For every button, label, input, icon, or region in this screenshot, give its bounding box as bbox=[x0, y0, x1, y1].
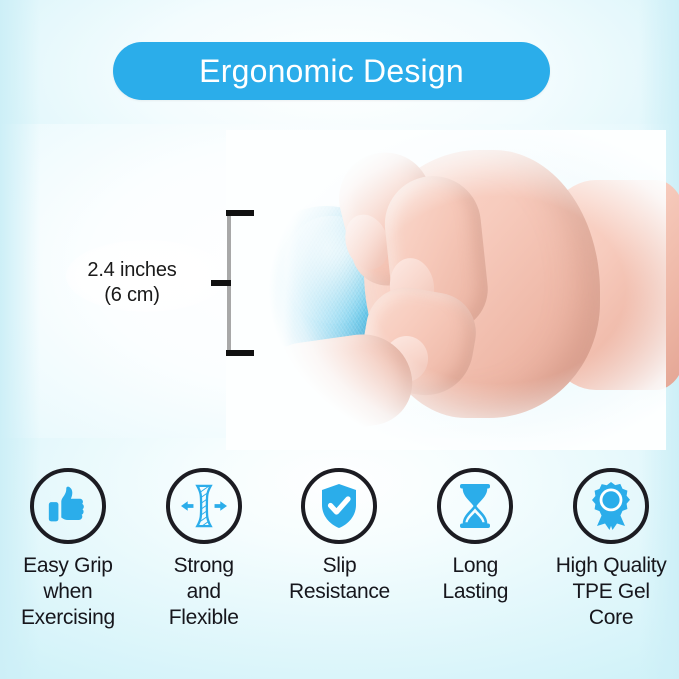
dimension-line-2: (6 cm) bbox=[58, 283, 206, 308]
award-ribbon-icon bbox=[589, 482, 633, 530]
feature-icon-circle bbox=[30, 468, 106, 544]
feature-label: Slip Resistance bbox=[289, 553, 390, 605]
hand-holding-ball-photo bbox=[236, 140, 656, 440]
title-banner: Ergonomic Design bbox=[113, 42, 550, 100]
product-infographic: Ergonomic Design 2.4 inches (6 cm) bbox=[0, 0, 679, 679]
feature-item: Long Lasting bbox=[407, 468, 543, 631]
feature-icon-circle bbox=[573, 468, 649, 544]
bracket-tick bbox=[211, 280, 231, 286]
thumbs-up-icon bbox=[45, 483, 91, 529]
compression-flexibility-icon bbox=[179, 483, 229, 529]
band-edge-right bbox=[639, 0, 679, 124]
feature-row: Easy Grip when Exercising bbox=[0, 468, 679, 631]
shield-check-icon bbox=[318, 482, 360, 530]
feature-label: Strong and Flexible bbox=[169, 553, 239, 631]
feature-icon-circle bbox=[301, 468, 377, 544]
band-edge-left bbox=[0, 0, 40, 124]
size-bracket bbox=[205, 210, 249, 356]
feature-item: Easy Grip when Exercising bbox=[0, 468, 136, 631]
page-title: Ergonomic Design bbox=[199, 55, 464, 87]
feature-item: Strong and Flexible bbox=[136, 468, 272, 631]
feature-label: Long Lasting bbox=[442, 553, 508, 605]
bracket-cap-top bbox=[226, 210, 254, 216]
dimension-label: 2.4 inches (6 cm) bbox=[58, 258, 206, 308]
feature-label: Easy Grip when Exercising bbox=[21, 553, 115, 631]
feature-item: High Quality TPE Gel Core bbox=[543, 468, 679, 631]
feature-label: High Quality TPE Gel Core bbox=[556, 553, 667, 631]
band-edge-left bbox=[0, 124, 40, 438]
dimension-line-1: 2.4 inches bbox=[87, 259, 176, 281]
hourglass-icon bbox=[454, 482, 496, 530]
feature-item: Slip Resistance bbox=[272, 468, 408, 631]
feature-icon-circle bbox=[166, 468, 242, 544]
bracket-cap-bottom bbox=[226, 350, 254, 356]
feature-icon-circle bbox=[437, 468, 513, 544]
